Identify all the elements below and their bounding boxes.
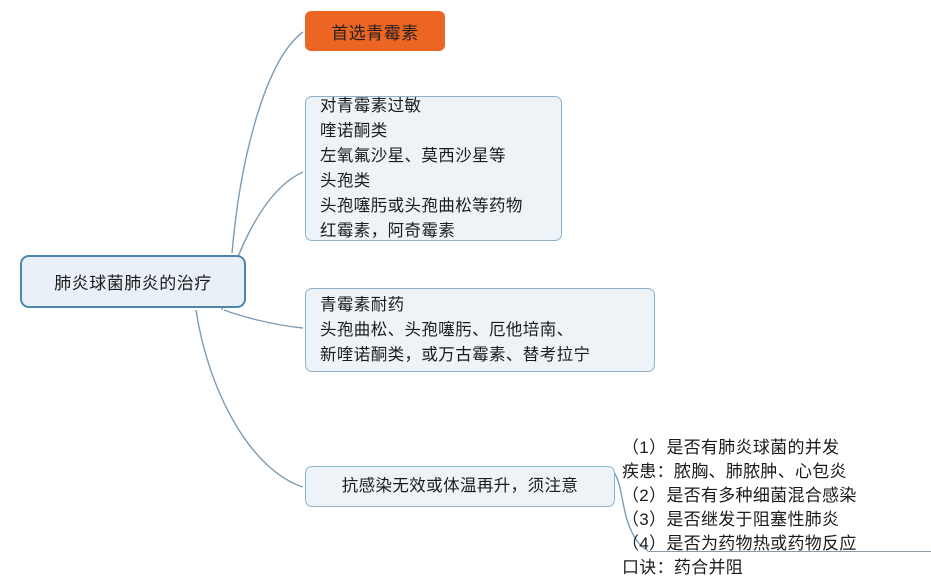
treatment-failure-notes: （1）是否有肺炎球菌的并发 疾患：脓胸、肺脓肿、心包炎 （2）是否有多种细菌混合… (622, 412, 927, 580)
root-node-label: 肺炎球菌肺炎的治疗 (54, 269, 212, 294)
treatment-failure-notes-label: （1）是否有肺炎球菌的并发 疾患：脓胸、肺脓肿、心包炎 （2）是否有多种细菌混合… (622, 438, 857, 577)
branch-node-treatment-failure-label: 抗感染无效或体温再升，须注意 (342, 474, 579, 499)
branch-node-penicillin-resistant-label: 青霉素耐药 头孢曲松、头孢噻肟、厄他培南、 新喹诺酮类，或万古霉素、替考拉宁 (320, 293, 590, 368)
root-node[interactable]: 肺炎球菌肺炎的治疗 (20, 255, 246, 308)
branch-node-first-choice[interactable]: 首选青霉素 (305, 11, 445, 51)
branch-node-first-choice-label: 首选青霉素 (331, 19, 419, 44)
notes-underline (648, 551, 931, 552)
branch-node-treatment-failure[interactable]: 抗感染无效或体温再升，须注意 (305, 466, 615, 507)
branch-node-penicillin-resistant[interactable]: 青霉素耐药 头孢曲松、头孢噻肟、厄他培南、 新喹诺酮类，或万古霉素、替考拉宁 (305, 288, 655, 372)
branch-node-penicillin-allergy[interactable]: 对青霉素过敏 喹诺酮类 左氧氟沙星、莫西沙星等 头孢类 头孢噻肟或头孢曲松等药物… (305, 96, 562, 241)
mindmap-canvas: 肺炎球菌肺炎的治疗 首选青霉素 对青霉素过敏 喹诺酮类 左氧氟沙星、莫西沙星等 … (0, 0, 931, 561)
branch-node-penicillin-allergy-label: 对青霉素过敏 喹诺酮类 左氧氟沙星、莫西沙星等 头孢类 头孢噻肟或头孢曲松等药物… (320, 94, 523, 244)
